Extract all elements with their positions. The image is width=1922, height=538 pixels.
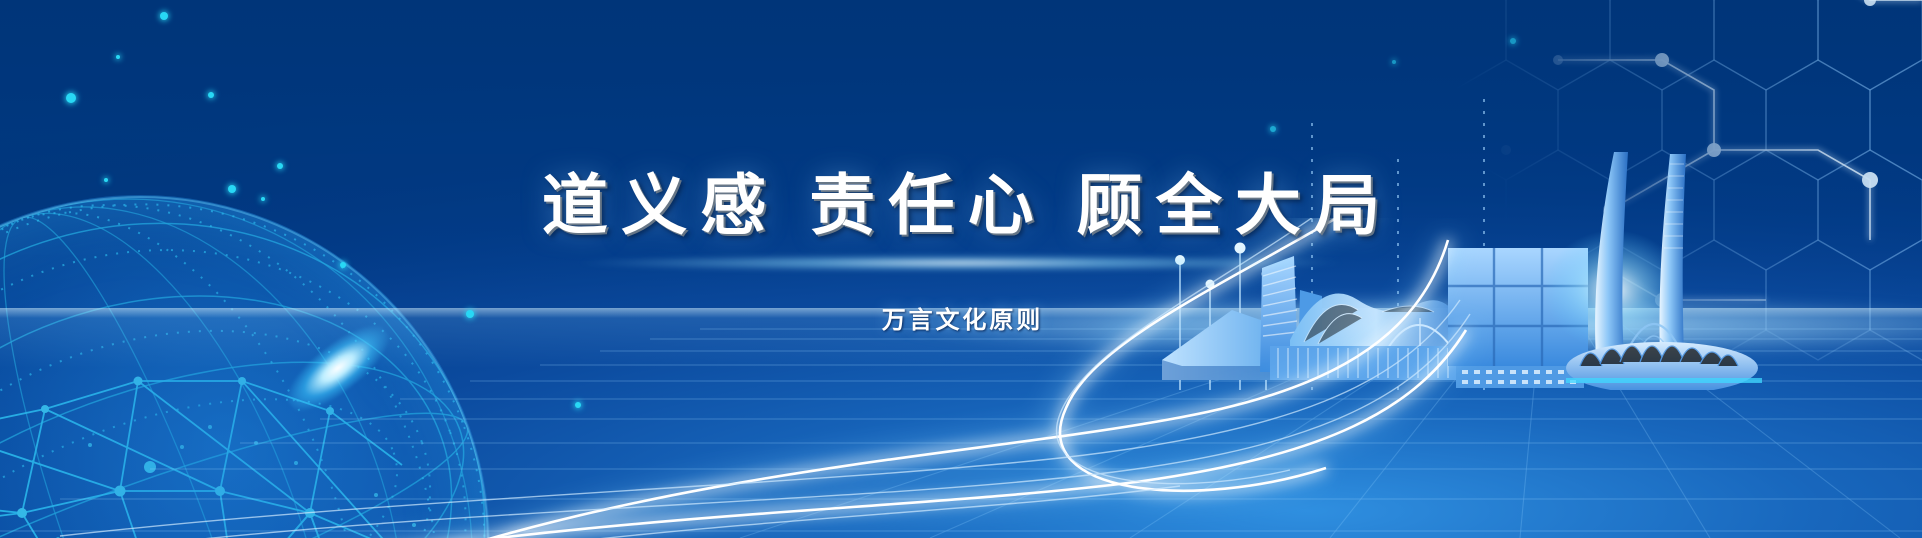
banner-root: 道义感 责任心 顾全大局 万言文化原则	[0, 0, 1922, 538]
title-underglow	[581, 255, 1341, 271]
